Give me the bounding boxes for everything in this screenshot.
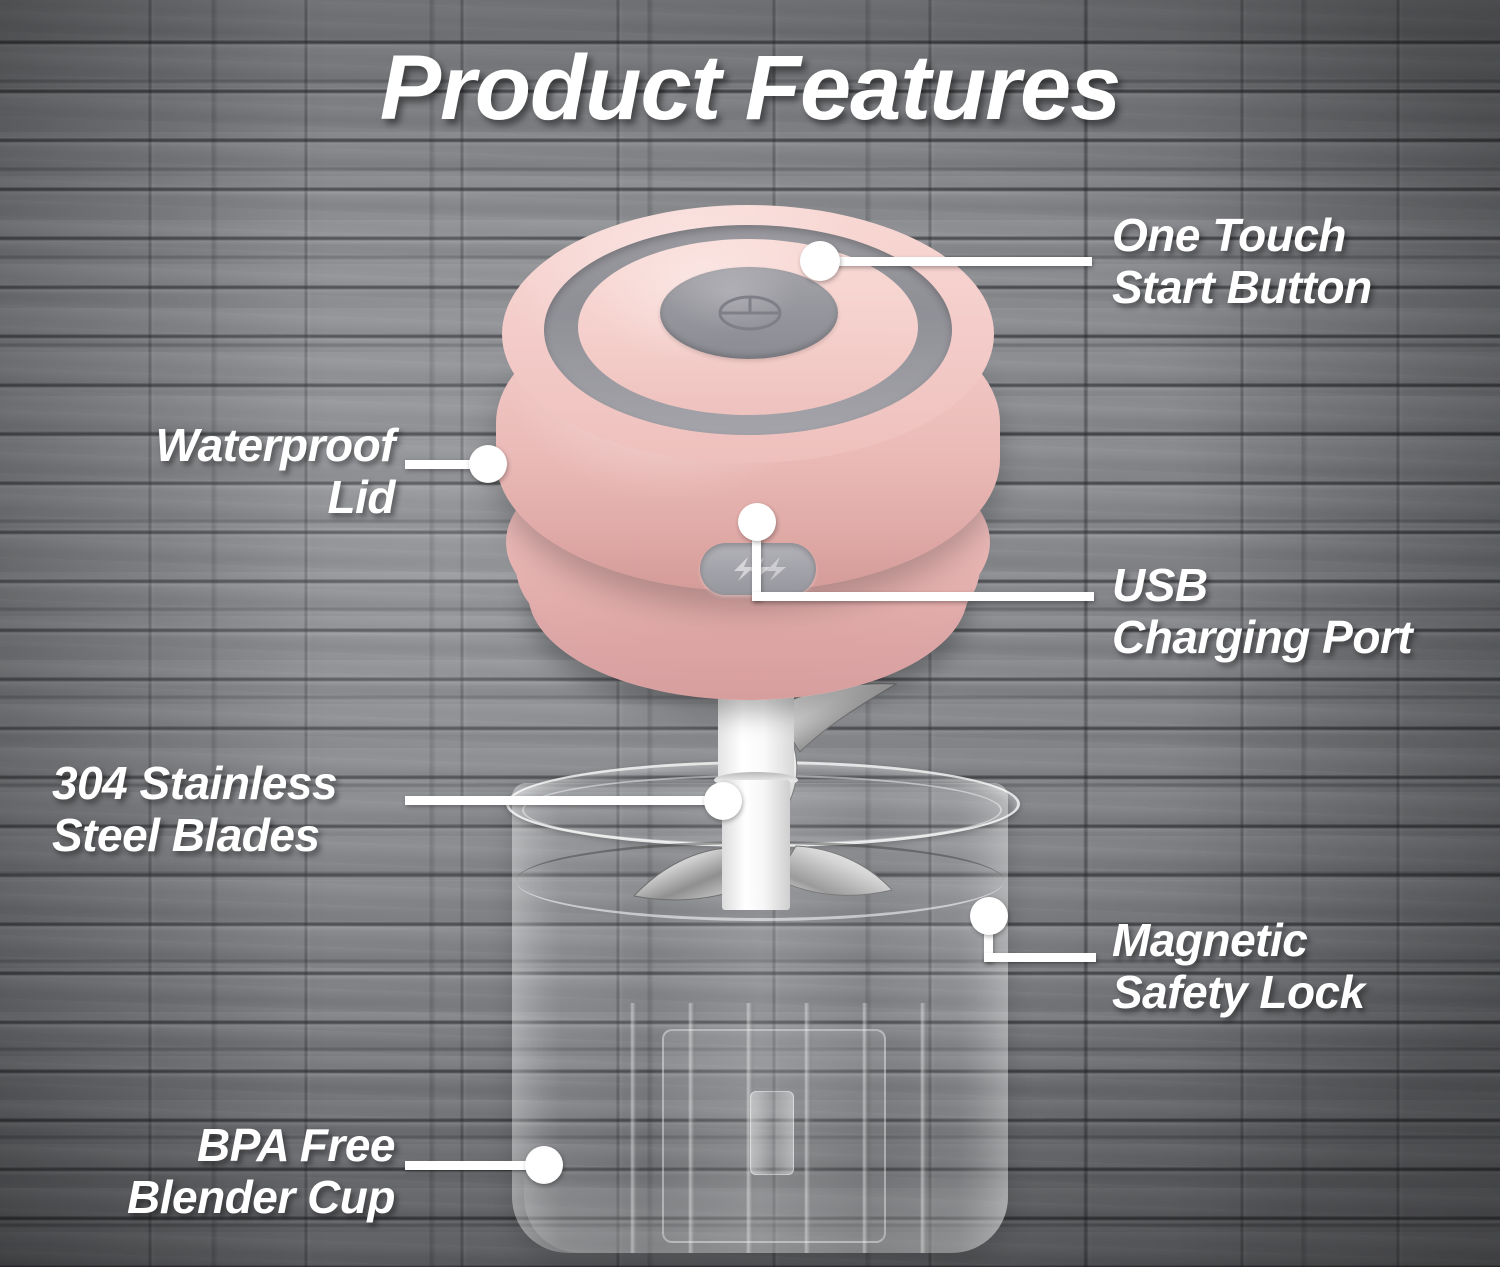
leader-dot-one-touch — [800, 241, 840, 281]
leader-dot-waterproof-lid — [469, 445, 507, 483]
leader-dot-bpa — [525, 1146, 563, 1184]
power-icon — [708, 291, 792, 335]
callout-line-2: Steel Blades — [52, 810, 337, 862]
leader-line-magnetic-horizontal — [984, 953, 1096, 962]
callout-waterproof-lid: Waterproof Lid — [85, 420, 395, 523]
callout-line-2: Charging Port — [1112, 612, 1412, 664]
callout-stainless-steel-blades: 304 Stainless Steel Blades — [52, 758, 337, 861]
leader-dot-magnetic — [970, 897, 1008, 935]
callout-line-2: Start Button — [1112, 262, 1372, 314]
leader-line-blades — [405, 796, 725, 805]
callout-line-2: Blender Cup — [55, 1172, 395, 1224]
callout-bpa-free-blender-cup: BPA Free Blender Cup — [55, 1120, 395, 1223]
leader-line-usb-horizontal — [752, 592, 1094, 601]
callout-line-1: 304 Stainless — [52, 758, 337, 810]
leader-line-one-touch — [820, 257, 1092, 266]
product-features-infographic: Product Features — [0, 0, 1500, 1267]
callout-line-1: USB — [1112, 560, 1412, 612]
leader-dot-usb — [738, 503, 776, 541]
one-touch-start-button[interactable] — [660, 267, 838, 359]
leader-line-bpa — [405, 1161, 545, 1170]
cup-bottom-highlight — [524, 1163, 1008, 1253]
callout-one-touch-start-button: One Touch Start Button — [1112, 210, 1372, 313]
callout-line-2: Safety Lock — [1112, 967, 1365, 1019]
callout-line-1: Magnetic — [1112, 915, 1365, 967]
callout-magnetic-safety-lock: Magnetic Safety Lock — [1112, 915, 1365, 1018]
blade-lower-right — [776, 846, 892, 895]
leader-dot-blades — [704, 782, 742, 820]
callout-line-2: Lid — [85, 472, 395, 524]
page-title: Product Features — [0, 42, 1500, 134]
callout-line-1: Waterproof — [85, 420, 395, 472]
callout-usb-charging-port: USB Charging Port — [1112, 560, 1412, 663]
callout-line-1: One Touch — [1112, 210, 1372, 262]
callout-line-1: BPA Free — [55, 1120, 395, 1172]
